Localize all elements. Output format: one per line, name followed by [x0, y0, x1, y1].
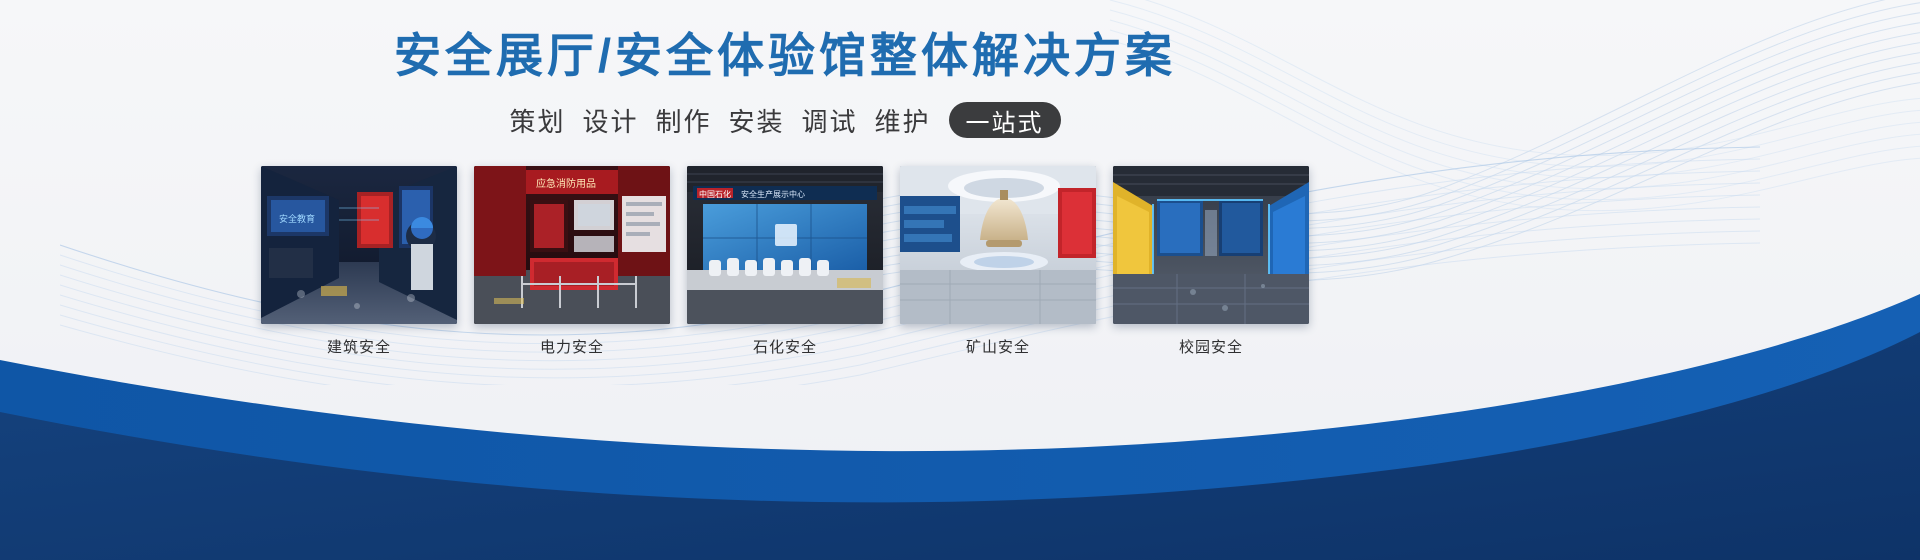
scene-electric-power-safety: 应急消防用品: [474, 166, 670, 324]
gallery-item-electric[interactable]: 应急消防用品: [474, 166, 670, 357]
service-item-install: 安装: [729, 102, 785, 139]
thumbnail-mining-safety[interactable]: [900, 166, 1096, 324]
gallery-item-campus[interactable]: 校园安全: [1113, 166, 1309, 357]
gallery-caption-campus: 校园安全: [1113, 336, 1309, 357]
scene-mining-safety: [900, 166, 1096, 324]
gallery-item-petrochemical[interactable]: 中国石化 安全生产展示中心: [687, 166, 883, 357]
service-item-maintain: 维护: [875, 102, 931, 139]
service-item-planning: 策划: [509, 102, 565, 139]
service-item-design: 设计: [582, 102, 638, 139]
gallery-item-construction[interactable]: 安全教育: [261, 166, 457, 357]
service-list: 策划 设计 制作 安装 调试 维护: [509, 102, 930, 139]
page-title: 安全展厅/安全体验馆整体解决方案: [0, 26, 1570, 86]
svg-text:中国石化: 中国石化: [699, 189, 731, 199]
gallery-caption-construction: 建筑安全: [261, 336, 457, 357]
svg-text:安全教育: 安全教育: [279, 213, 315, 224]
gallery-caption-electric: 电力安全: [474, 336, 670, 357]
thumbnail-construction-safety[interactable]: 安全教育: [261, 166, 457, 324]
service-list-row: 策划 设计 制作 安装 调试 维护 一站式: [0, 100, 1570, 140]
thumbnail-campus-safety[interactable]: [1113, 166, 1309, 324]
gallery-caption-petrochemical: 石化安全: [687, 336, 883, 357]
promo-banner: 安全展厅/安全体验馆整体解决方案 策划 设计 制作 安装 调试 维护 一站式: [0, 0, 1920, 560]
gallery-strip: 安全教育: [0, 166, 1570, 357]
gallery-item-mining[interactable]: 矿山安全: [900, 166, 1096, 357]
scene-petrochemical-safety: 中国石化 安全生产展示中心: [687, 166, 883, 324]
one-stop-badge: 一站式: [949, 102, 1061, 138]
svg-text:安全生产展示中心: 安全生产展示中心: [741, 189, 805, 199]
svg-text:应急消防用品: 应急消防用品: [536, 177, 596, 190]
scene-campus-safety: [1113, 166, 1309, 324]
service-item-debug: 调试: [802, 102, 858, 139]
scene-construction-safety: 安全教育: [261, 166, 457, 324]
thumbnail-petrochemical-safety[interactable]: 中国石化 安全生产展示中心: [687, 166, 883, 324]
headline-block: 安全展厅/安全体验馆整体解决方案 策划 设计 制作 安装 调试 维护 一站式: [0, 0, 1570, 140]
thumbnail-electric-power-safety[interactable]: 应急消防用品: [474, 166, 670, 324]
gallery-caption-mining: 矿山安全: [900, 336, 1096, 357]
service-item-production: 制作: [655, 102, 711, 139]
